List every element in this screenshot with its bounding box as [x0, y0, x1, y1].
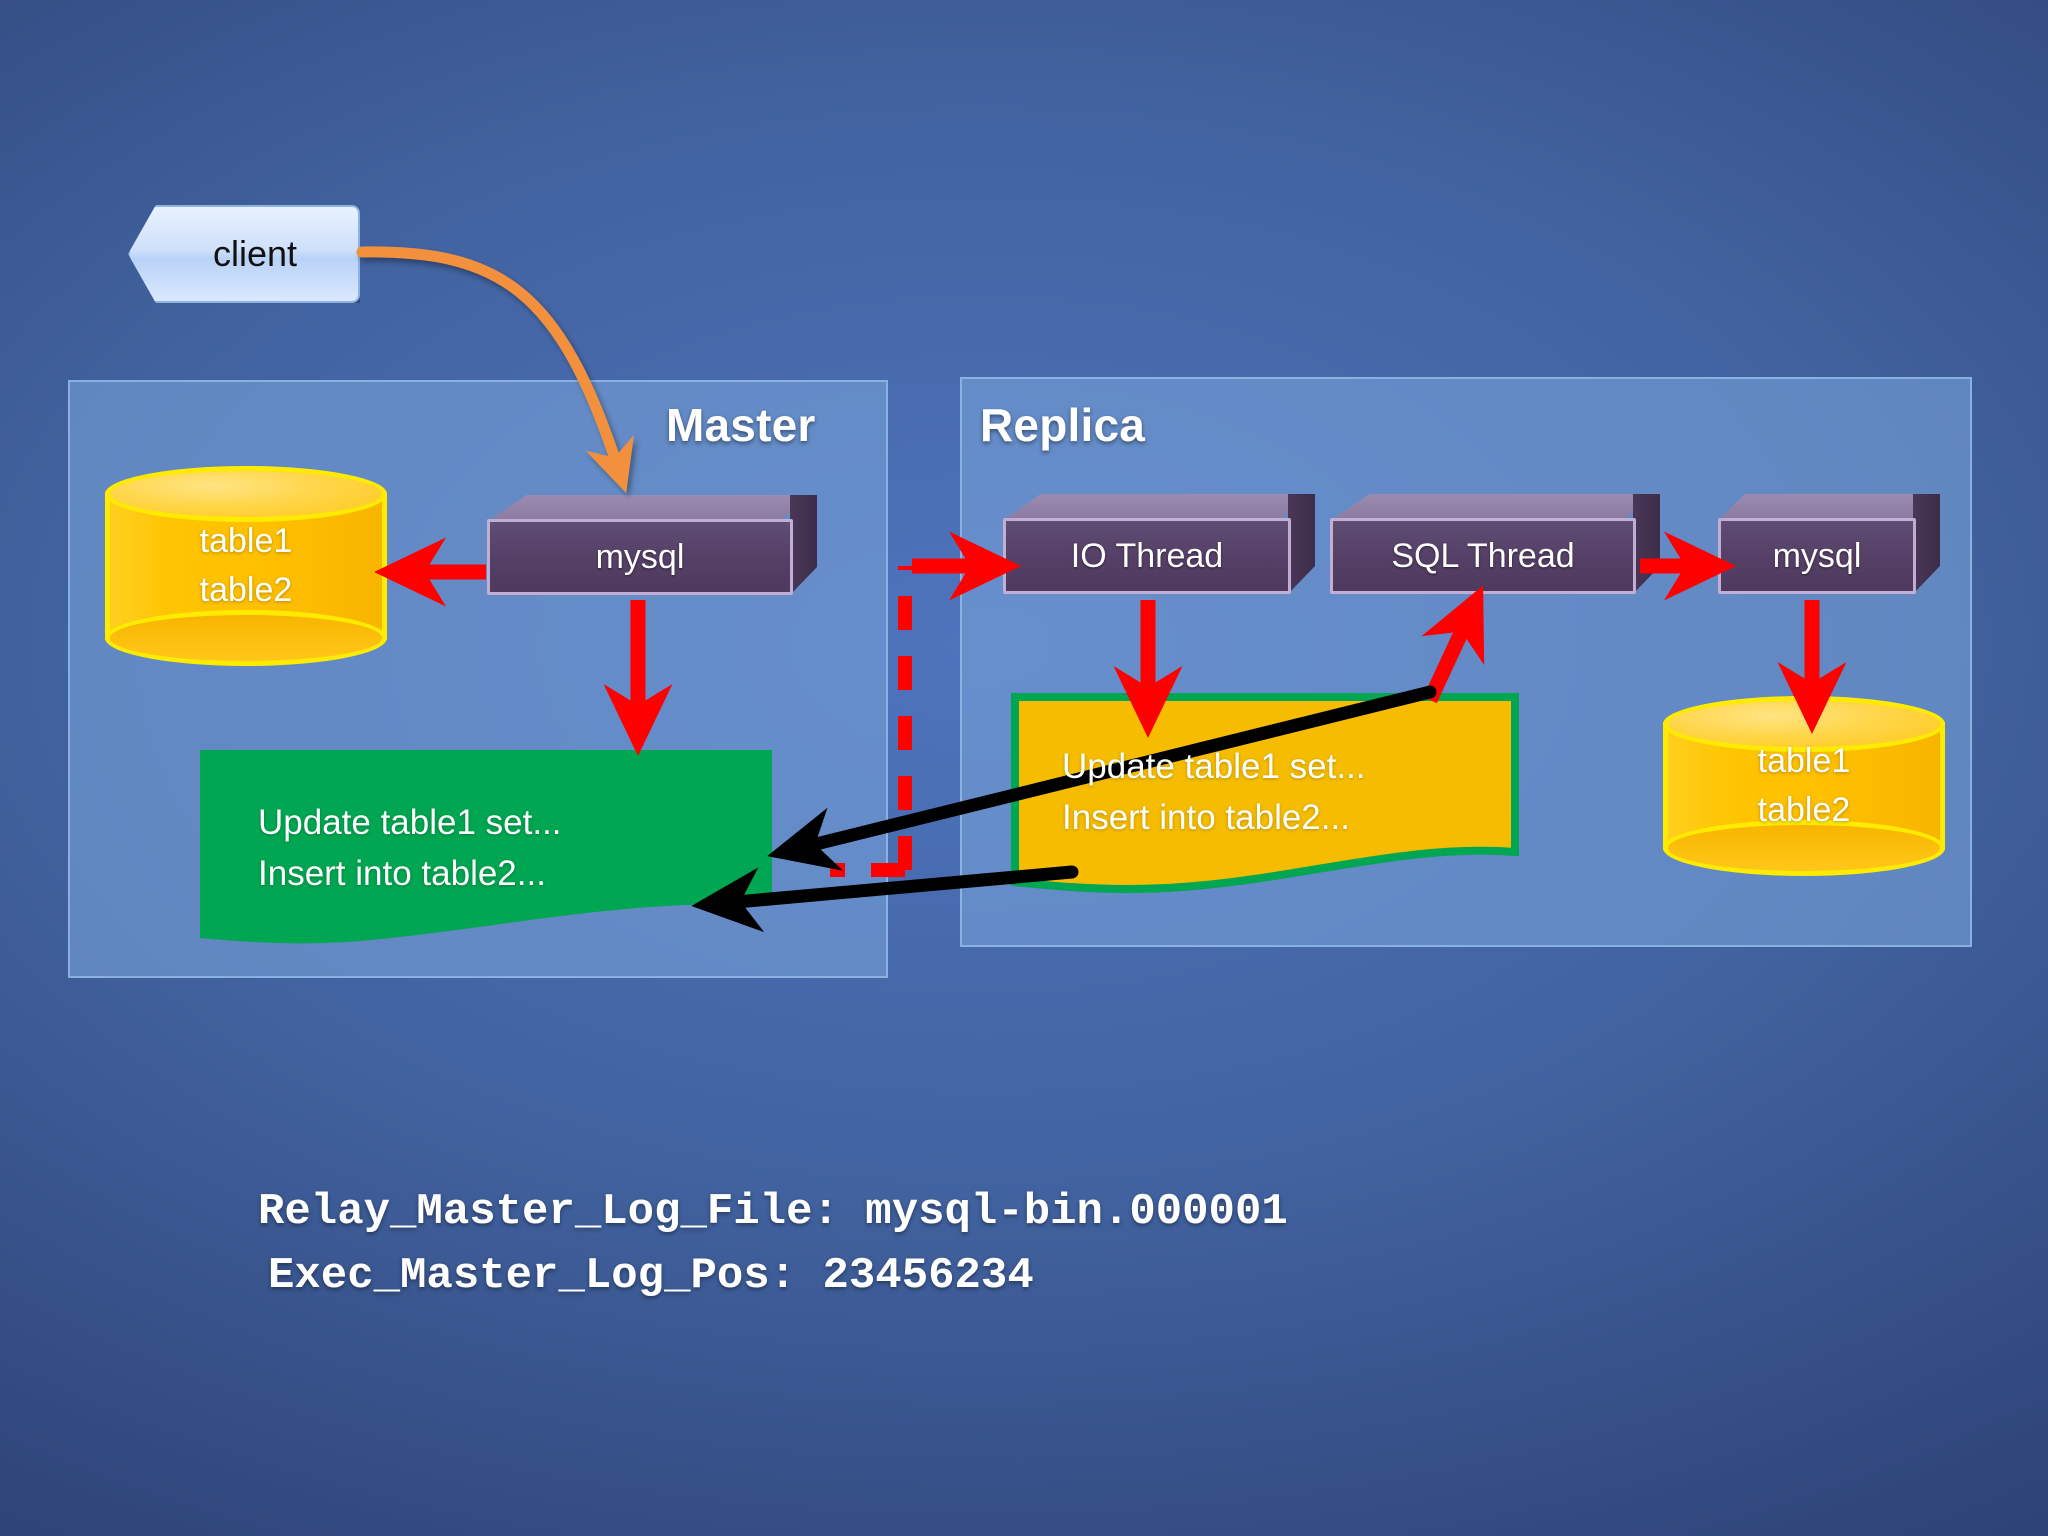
master-binlog-banner: Update table1 set... Insert into table2.…	[200, 750, 772, 948]
master-binlog-line1: Update table1 set...	[258, 798, 772, 849]
box-side-face	[1288, 494, 1315, 594]
replica-database-labels: table1 table2	[1663, 696, 1945, 876]
box-top-face	[1003, 494, 1315, 521]
relay-log-line2: Insert into table2...	[1062, 793, 1520, 844]
box-front-face: SQL Thread	[1330, 518, 1636, 594]
replica-relay-log-banner: Update table1 set... Insert into table2.…	[1010, 692, 1520, 894]
replica-mysql-label: mysql	[1773, 537, 1862, 576]
master-mysql-box[interactable]: mysql	[487, 495, 817, 595]
replica-mysql-box[interactable]: mysql	[1718, 494, 1940, 594]
master-table2-label: table2	[200, 566, 293, 615]
replica-io-thread-box[interactable]: IO Thread	[1003, 494, 1315, 594]
client-node[interactable]: client	[128, 205, 360, 303]
box-side-face	[1633, 494, 1660, 594]
master-binlog-line2: Insert into table2...	[258, 849, 772, 900]
box-top-face	[1330, 494, 1660, 521]
replica-relay-log-text: Update table1 set... Insert into table2.…	[1010, 692, 1520, 894]
master-database-cylinder: table1 table2	[105, 466, 387, 666]
replica-table2-label: table2	[1758, 786, 1851, 835]
replica-panel-title: Replica	[980, 398, 1145, 452]
box-top-face	[487, 495, 817, 522]
replica-sql-thread-box[interactable]: SQL Thread	[1330, 494, 1660, 594]
relay-log-line1: Update table1 set...	[1062, 742, 1520, 793]
box-front-face: mysql	[487, 519, 793, 595]
status-exec-master-log-pos: Exec_Master_Log_Pos: 23456234	[268, 1252, 1034, 1301]
box-side-face	[790, 495, 817, 595]
box-top-face	[1718, 494, 1940, 521]
client-label: client	[213, 233, 297, 275]
replica-database-cylinder: table1 table2	[1663, 696, 1945, 876]
master-table1-label: table1	[200, 517, 293, 566]
box-front-face: mysql	[1718, 518, 1916, 594]
slide-canvas: Master Replica client table1 table2 mysq…	[0, 0, 2048, 1536]
box-front-face: IO Thread	[1003, 518, 1291, 594]
master-mysql-label: mysql	[596, 538, 685, 577]
master-database-labels: table1 table2	[105, 466, 387, 666]
io-thread-label: IO Thread	[1071, 537, 1223, 576]
sql-thread-label: SQL Thread	[1391, 537, 1574, 576]
box-side-face	[1913, 494, 1940, 594]
replica-table1-label: table1	[1758, 737, 1851, 786]
master-binlog-text: Update table1 set... Insert into table2.…	[200, 750, 772, 948]
status-relay-master-log-file: Relay_Master_Log_File: mysql-bin.000001	[258, 1188, 1288, 1237]
master-panel-title: Master	[666, 398, 816, 452]
